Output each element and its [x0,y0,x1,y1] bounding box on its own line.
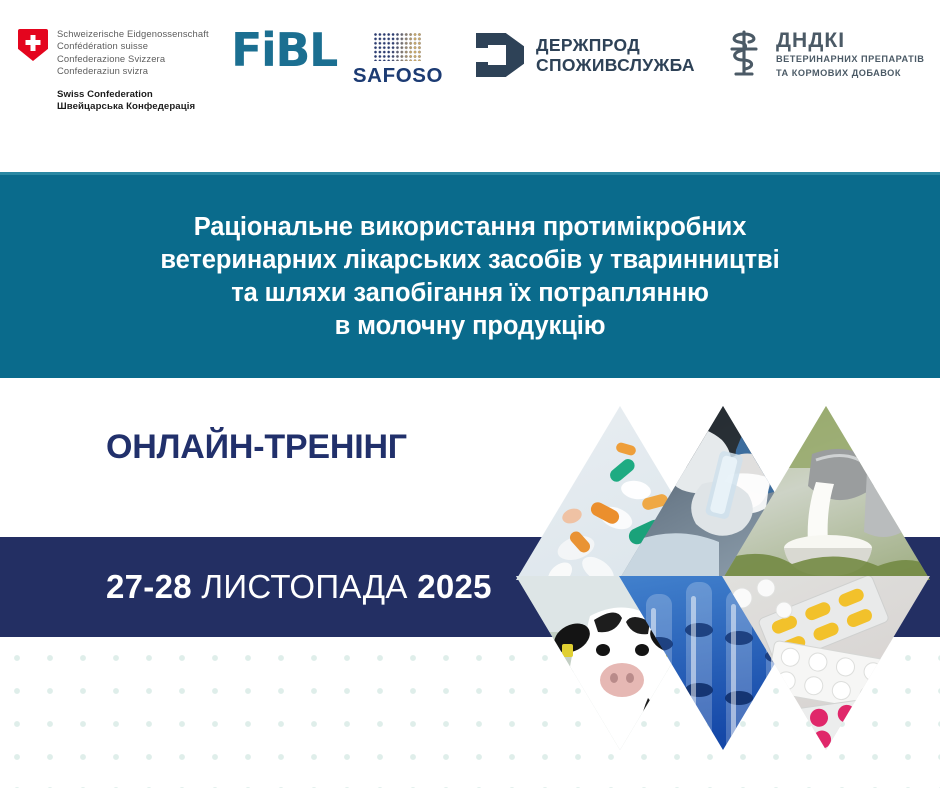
sponsor-logo-bar: Schweizerische Eidgenossenschaft Confédé… [0,0,940,172]
derzhprod-emblem-icon [476,33,524,77]
swiss-cross-icon [18,29,48,61]
logo-swiss-confederation: Schweizerische Eidgenossenschaft Confédé… [18,28,209,114]
event-format-label: ОНЛАЙН-ТРЕНІНГ [106,428,407,467]
safoso-wordmark: SAFOSO [350,64,446,88]
swiss-line-de: Schweizerische Eidgenossenschaft [57,28,209,40]
safoso-dot-grid-icon [374,33,422,61]
dndki-title: ДНДКІ [776,30,924,52]
event-date-year: 2025 [417,568,492,605]
logo-safoso: SAFOSO [350,33,446,88]
title-line-1: Раціональне використання протимікробних [160,211,779,244]
logo-derzhprodspozhyvsluzhba: ДЕРЖПРОД СПОЖИВСЛУЖБА [476,33,695,77]
swiss-line-en: Swiss Confederation [57,89,209,102]
swiss-line-uk: Швейцарська Конфедерація [57,101,209,114]
swiss-confederation-bold-lines: Swiss Confederation Швейцарська Конфедер… [57,89,209,114]
derzhprod-line-2: СПОЖИВСЛУЖБА [536,55,695,75]
derzhprod-line-1: ДЕРЖПРОД [536,35,695,55]
event-date: 27-28 ЛИСТОПАДА 2025 [106,567,492,607]
title-band: Раціональне використання протимікробних … [0,172,940,378]
title-line-2: ветеринарних лікарських засобів у тварин… [160,244,779,277]
dndki-subtitle-2: ТА КОРМОВИХ ДОБАВОК [776,68,924,80]
title-line-3: та шляхи запобігання їх потраплянню [160,277,779,310]
dndki-wordmark: ДНДКІ ВЕТЕРИНАРНИХ ПРЕПАРАТІВ ТА КОРМОВИ… [776,28,924,79]
logo-fibl: FiBL [231,27,337,73]
dndki-caduceus-icon [723,28,765,78]
swiss-line-rm: Confederaziun svizra [57,65,209,77]
event-date-month: ЛИСТОПАДА [192,568,417,605]
poster-title: Раціональне використання протимікробних … [126,211,813,343]
title-line-4: в молочну продукцію [160,310,779,343]
swiss-line-fr: Confédération suisse [57,40,209,52]
swiss-line-it: Confederazione Svizzera [57,53,209,65]
logo-dndki: ДНДКІ ВЕТЕРИНАРНИХ ПРЕПАРАТІВ ТА КОРМОВИ… [723,28,924,79]
training-announcement-poster: Schweizerische Eidgenossenschaft Confédé… [0,0,940,788]
derzhprod-wordmark: ДЕРЖПРОД СПОЖИВСЛУЖБА [536,35,695,75]
dndki-subtitle-1: ВЕТЕРИНАРНИХ ПРЕПАРАТІВ [776,54,924,66]
swiss-confederation-languages: Schweizerische Eidgenossenschaft Confédé… [57,28,209,78]
hexagon-photo-collage [516,398,930,758]
event-date-range: 27-28 [106,568,192,605]
